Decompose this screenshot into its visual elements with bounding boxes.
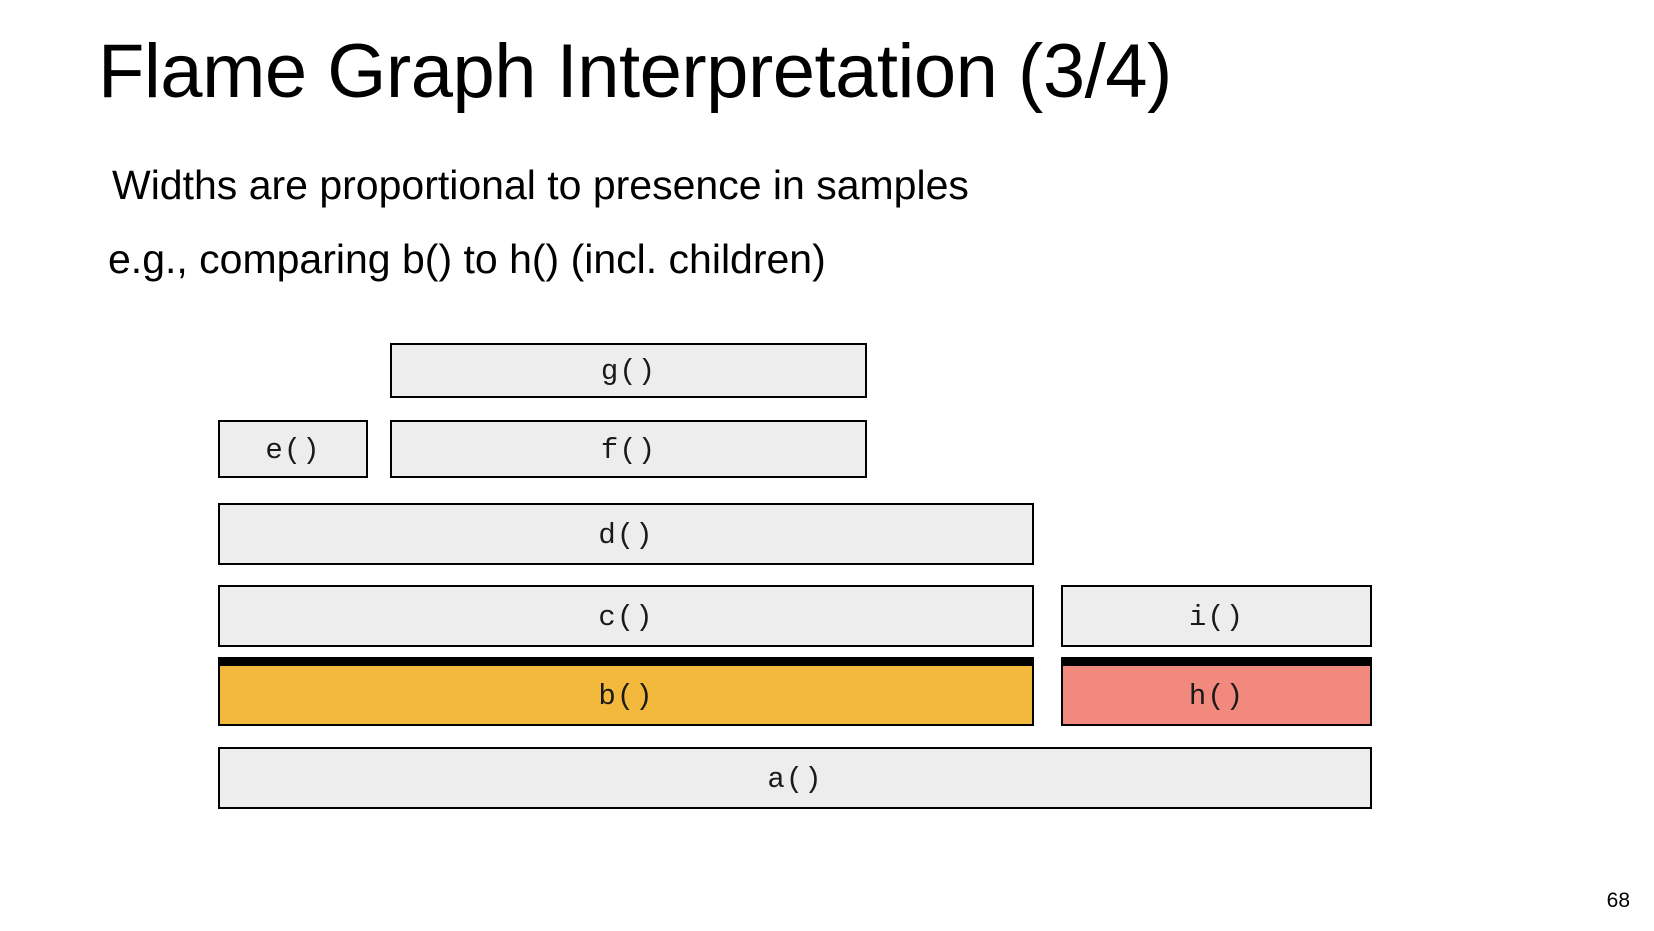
flame-frame-label-g: g(): [601, 357, 656, 386]
flame-frame-d[interactable]: d(): [218, 503, 1034, 565]
flame-frame-i[interactable]: i(): [1061, 585, 1372, 647]
flame-frame-label-i: i(): [1189, 603, 1244, 632]
flame-frame-label-c: c(): [598, 603, 653, 632]
flame-frame-label-d: d(): [598, 521, 653, 550]
flame-frame-label-h: h(): [1189, 682, 1244, 711]
page-number: 68: [1607, 889, 1630, 913]
flame-frame-h[interactable]: h(): [1061, 657, 1372, 726]
flame-frame-e[interactable]: e(): [218, 420, 368, 478]
flame-frame-b[interactable]: b(): [218, 657, 1034, 726]
flame-frame-c[interactable]: c(): [218, 585, 1034, 647]
flame-frame-label-f: f(): [601, 436, 656, 465]
flame-frame-a[interactable]: a(): [218, 747, 1372, 809]
flame-frame-label-e: e(): [265, 436, 320, 465]
flame-frame-g[interactable]: g(): [390, 343, 867, 398]
flame-frame-f[interactable]: f(): [390, 420, 867, 478]
flame-frame-label-a: a(): [767, 765, 822, 794]
flame-graph: g() e() f() d() c() i() b() h() a(): [0, 0, 1654, 931]
flame-frame-label-b: b(): [598, 682, 653, 711]
